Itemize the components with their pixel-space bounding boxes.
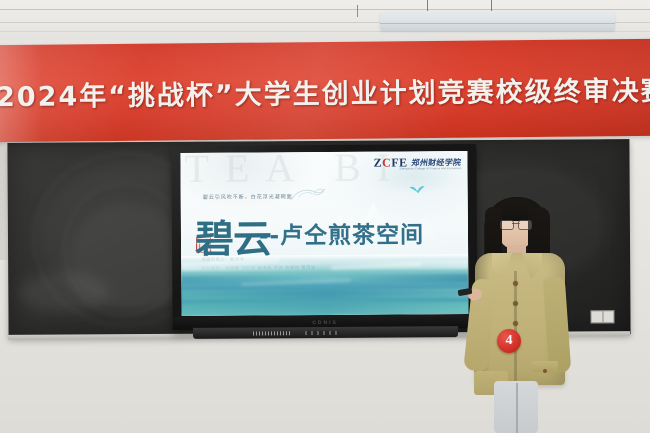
jacket-button: [513, 321, 518, 326]
presenter: 4: [470, 193, 575, 433]
sea-band: [181, 302, 468, 316]
slide-title-sub: --卢仝煎茶空间: [259, 215, 424, 250]
presentation-slide: TEA BI ZCFE 郑州财经学院 Zhengzhou College of …: [180, 151, 468, 316]
contestant-number-badge: 4: [497, 329, 521, 353]
display-screen[interactable]: TEA BI ZCFE 郑州财经学院 Zhengzhou College of …: [180, 151, 468, 316]
chalk-arc: [63, 182, 188, 317]
jacket-placket: [514, 271, 517, 383]
bird-icon: [409, 183, 426, 196]
event-banner-title: 2024年“挑战杯”大学生创业计划竞赛校级终审决赛: [0, 69, 650, 114]
display-base-bar: [193, 326, 458, 339]
lamp-seam: [380, 23, 615, 24]
jacket-pocket-button: [543, 369, 547, 373]
wall-switch-plate[interactable]: [590, 310, 614, 323]
slide-poem-line: 碧云引风吹不断，白花浮光凝碗面: [203, 193, 293, 201]
seascape-graphic: [181, 254, 468, 316]
ceiling-seam-line: [0, 31, 650, 32]
lamp-suspension-rod: [357, 5, 358, 17]
interactive-display[interactable]: TEA BI ZCFE 郑州财经学院 Zhengzhou College of …: [171, 144, 477, 330]
display-control-panel[interactable]: [305, 331, 339, 335]
ceiling-seam-line: [0, 9, 650, 10]
event-banner: 2024年“挑战杯”大学生创业计划竞赛校级终审决赛: [0, 39, 650, 142]
glasses-lens-left: [500, 220, 514, 230]
jacket-button: [513, 281, 518, 286]
jacket-button: [513, 301, 518, 306]
leaf-sketch-icon: [289, 186, 327, 202]
ceiling-light-fixture: [380, 11, 615, 31]
logo-institution-name-en: Zhengzhou College of Finance and Economi…: [399, 167, 461, 170]
ceiling: [0, 0, 650, 42]
glasses-icon: [500, 220, 532, 228]
glasses-lens-right: [518, 220, 532, 230]
photo-scene: TEA BI ZCFE 郑州财经学院 Zhengzhou College of …: [0, 0, 650, 433]
contestant-number: 4: [506, 334, 513, 348]
sea-band: [181, 288, 468, 300]
speaker-grill: [253, 331, 291, 335]
pants-seam: [516, 383, 518, 433]
display-brand-label: CDNIS: [312, 320, 338, 326]
